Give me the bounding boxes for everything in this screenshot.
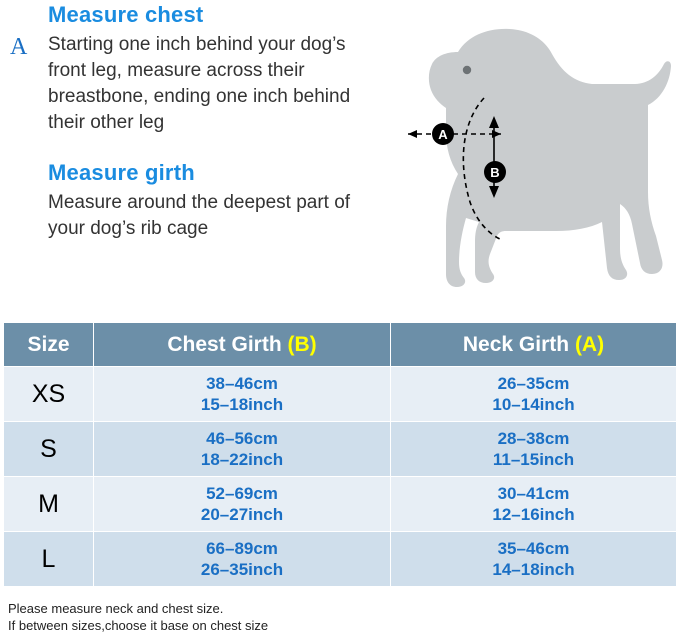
instruction-area: A Measure chest Starting one inch behind… xyxy=(0,0,679,312)
cell-neck-l: 35–46cm 14–18inch xyxy=(391,532,677,587)
table-row: S 46–56cm 18–22inch 28–38cm 11–15inch xyxy=(4,422,677,477)
marker-b-label: B xyxy=(490,165,499,180)
cell-neck-m-inch: 12–16inch xyxy=(392,504,675,525)
cell-size-l: L xyxy=(4,532,94,587)
size-chart-table: Size Chest Girth (B) Neck Girth (A) XS 3… xyxy=(3,322,677,587)
footer-note: Please measure neck and chest size. If b… xyxy=(8,600,268,634)
header-chest-girth-tag: (B) xyxy=(288,333,317,356)
table-header-row: Size Chest Girth (B) Neck Girth (A) xyxy=(4,323,677,367)
cell-chest-s-cm: 46–56cm xyxy=(95,428,389,449)
cell-chest-xs-inch: 15–18inch xyxy=(95,394,389,415)
table-row: M 52–69cm 20–27inch 30–41cm 12–16inch xyxy=(4,477,677,532)
marker-a-label: A xyxy=(438,127,448,142)
cell-size-m: M xyxy=(4,477,94,532)
cell-neck-m: 30–41cm 12–16inch xyxy=(391,477,677,532)
header-chest-girth: Chest Girth (B) xyxy=(94,323,391,367)
footer-line-2: If between sizes,choose it base on chest… xyxy=(8,617,268,634)
header-neck-girth-text: Neck Girth xyxy=(463,333,569,356)
cell-chest-s: 46–56cm 18–22inch xyxy=(94,422,391,477)
instruction-title-girth: Measure girth xyxy=(0,160,370,186)
header-neck-girth-tag: (A) xyxy=(575,333,604,356)
cell-chest-m-inch: 20–27inch xyxy=(95,504,389,525)
instruction-block-girth: B Measure girth Measure around the deepe… xyxy=(0,136,370,242)
table-row: L 66–89cm 26–35inch 35–46cm 14–18inch xyxy=(4,532,677,587)
cell-neck-s: 28–38cm 11–15inch xyxy=(391,422,677,477)
instruction-text-girth: Measure around the deepest part of your … xyxy=(0,190,370,242)
cell-chest-xs-cm: 38–46cm xyxy=(95,373,389,394)
cell-chest-l-inch: 26–35inch xyxy=(95,559,389,580)
instruction-title-chest: Measure chest xyxy=(0,2,370,28)
header-neck-girth: Neck Girth (A) xyxy=(391,323,677,367)
cell-chest-l-cm: 66–89cm xyxy=(95,538,389,559)
header-size: Size xyxy=(4,323,94,367)
cell-chest-m-cm: 52–69cm xyxy=(95,483,389,504)
table-row: XS 38–46cm 15–18inch 26–35cm 10–14inch xyxy=(4,367,677,422)
dog-diagram: A B xyxy=(366,12,676,302)
cell-size-xs: XS xyxy=(4,367,94,422)
cell-neck-xs-inch: 10–14inch xyxy=(392,394,675,415)
cell-chest-m: 52–69cm 20–27inch xyxy=(94,477,391,532)
cell-neck-l-inch: 14–18inch xyxy=(392,559,675,580)
cell-chest-xs: 38–46cm 15–18inch xyxy=(94,367,391,422)
cell-size-s: S xyxy=(4,422,94,477)
instruction-list: A Measure chest Starting one inch behind… xyxy=(0,0,370,242)
cell-neck-s-inch: 11–15inch xyxy=(392,449,675,470)
cell-neck-l-cm: 35–46cm xyxy=(392,538,675,559)
instruction-text-chest: Starting one inch behind your dog’s fron… xyxy=(0,32,370,136)
cell-neck-xs-cm: 26–35cm xyxy=(392,373,675,394)
footer-line-1: Please measure neck and chest size. xyxy=(8,600,268,617)
cell-chest-l: 66–89cm 26–35inch xyxy=(94,532,391,587)
header-chest-girth-text: Chest Girth xyxy=(167,333,281,356)
cell-neck-s-cm: 28–38cm xyxy=(392,428,675,449)
instruction-block-chest: A Measure chest Starting one inch behind… xyxy=(0,0,370,136)
instruction-letter-a: A xyxy=(10,34,27,61)
cell-neck-m-cm: 30–41cm xyxy=(392,483,675,504)
dog-silhouette-icon xyxy=(429,29,671,287)
cell-chest-s-inch: 18–22inch xyxy=(95,449,389,470)
dog-eye-icon xyxy=(463,66,471,74)
cell-neck-xs: 26–35cm 10–14inch xyxy=(391,367,677,422)
